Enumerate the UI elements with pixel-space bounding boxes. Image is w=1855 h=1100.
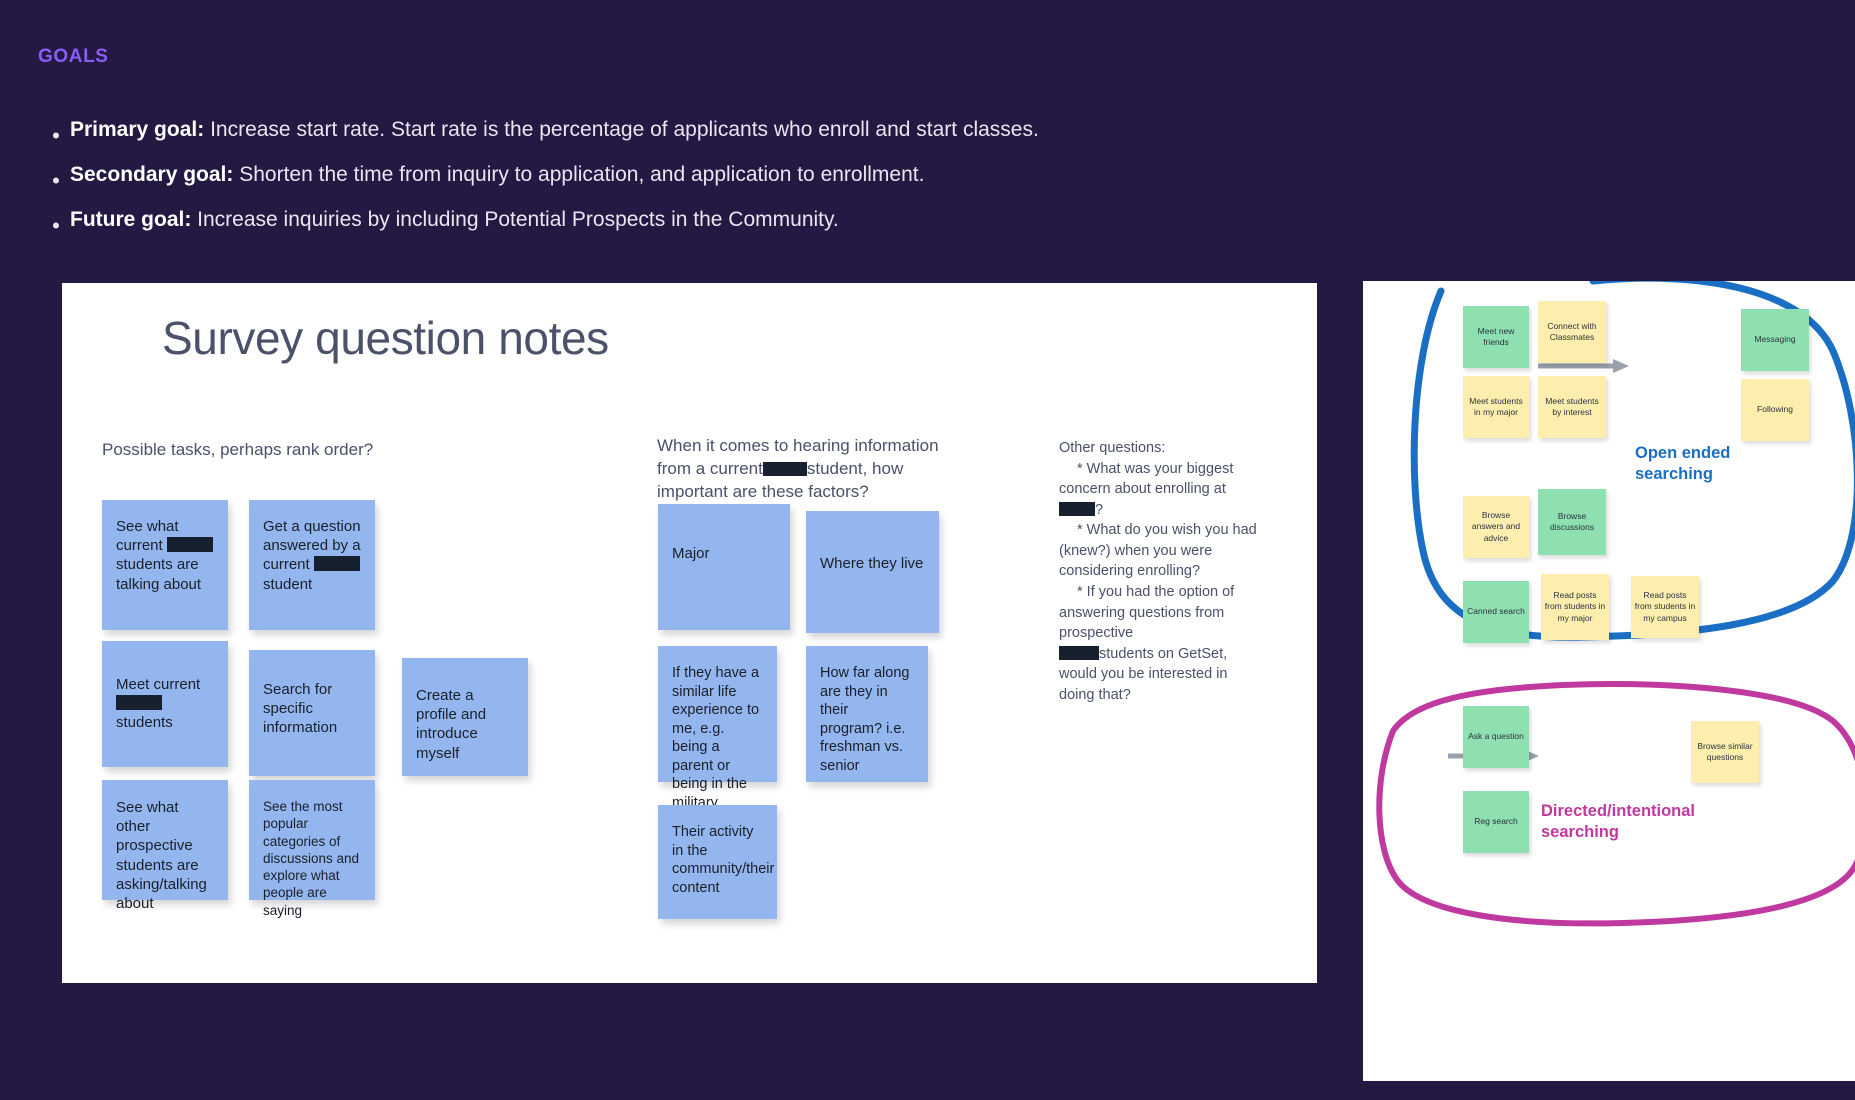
sticky-note-mini[interactable]: Read posts from students in my campus — [1631, 576, 1699, 638]
sticky-note-mini[interactable]: Read posts from students in my major — [1541, 574, 1609, 640]
goal-item: • Primary goal: Increase start rate. Sta… — [42, 116, 1542, 147]
sticky-note-mini[interactable]: Ask a question — [1463, 706, 1529, 768]
sticky-note[interactable]: Create a profile and introduce myself — [402, 658, 528, 776]
sticky-note[interactable]: Search for specific information — [249, 650, 375, 776]
bullet-icon: • — [42, 161, 70, 192]
note-text: Search for specific information — [263, 681, 337, 736]
sticky-note-mini[interactable]: Canned search — [1463, 581, 1529, 643]
note-text: Create a profile and introduce myself — [416, 687, 486, 762]
bullet-icon: • — [42, 206, 70, 237]
sticky-note[interactable]: Meet current students — [102, 641, 228, 767]
other-questions-block: Other questions: * What was your biggest… — [1059, 438, 1264, 706]
redaction-bar — [1059, 502, 1095, 516]
bullet-icon: • — [42, 116, 70, 147]
note-text-tail: students — [116, 714, 173, 731]
note-text: Their activity in the community/their co… — [672, 824, 774, 896]
column-heading-tasks: Possible tasks, perhaps rank order? — [102, 439, 502, 462]
sticky-note-mini[interactable]: Meet students by interest — [1538, 376, 1606, 438]
sticky-note-mini[interactable]: Following — [1741, 379, 1809, 441]
other-question-2: * What do you wish you had (knew?) when … — [1059, 520, 1264, 582]
cluster-label-open-ended: Open ended searching — [1635, 443, 1785, 486]
note-text: See the most popular categories of discu… — [263, 799, 359, 918]
sticky-note[interactable]: See the most popular categories of discu… — [249, 780, 375, 900]
sticky-note[interactable]: If they have a similar life experience t… — [658, 646, 777, 782]
sticky-note-mini[interactable]: Messaging — [1741, 309, 1809, 371]
note-text-tail: student — [263, 576, 312, 593]
sticky-note[interactable]: See what other prospective students are … — [102, 780, 228, 900]
sticky-note-mini[interactable]: Connect with Classmates — [1538, 301, 1606, 363]
redaction-bar — [763, 462, 807, 476]
slide-canvas: GOALS • Primary goal: Increase start rat… — [0, 0, 1855, 1100]
sticky-note-mini[interactable]: Meet students in my major — [1463, 376, 1529, 438]
redaction-bar — [314, 556, 360, 571]
note-text: If they have a similar life experience t… — [672, 665, 759, 811]
column-heading-factors: When it comes to hearing information fro… — [657, 435, 977, 504]
note-text: How far along are they in their program?… — [820, 665, 909, 774]
note-text: Meet current — [116, 676, 200, 693]
other-question-1: * What was your biggest concern about en… — [1059, 459, 1264, 500]
goal-item: • Secondary goal: Shorten the time from … — [42, 161, 1542, 192]
sticky-note[interactable]: See what current students are talking ab… — [102, 500, 228, 630]
sticky-note[interactable]: Get a question answered by a current stu… — [249, 500, 375, 630]
sticky-note-mini[interactable]: Browse discussions — [1538, 489, 1606, 555]
other-questions-heading: Other questions: — [1059, 440, 1165, 456]
note-text: Where they live — [820, 555, 923, 572]
sticky-note-mini[interactable]: Reg search — [1463, 791, 1529, 853]
goal-label: Primary goal: — [70, 118, 204, 141]
sticky-note[interactable]: Major — [658, 504, 790, 630]
factors-heading-d: these factors? — [762, 482, 869, 501]
section-label-goals: GOALS — [38, 46, 109, 68]
sticky-note-mini[interactable]: Browse similar questions — [1691, 721, 1759, 783]
goal-body: Shorten the time from inquiry to applica… — [239, 163, 924, 186]
goal-label: Future goal: — [70, 208, 191, 231]
other-question-1-tail: ? — [1095, 502, 1103, 518]
goal-item: • Future goal: Increase inquiries by inc… — [42, 206, 1542, 237]
goal-text: Secondary goal: Shorten the time from in… — [70, 161, 924, 189]
goal-body: Increase inquiries by including Potentia… — [197, 208, 839, 231]
goal-text: Primary goal: Increase start rate. Start… — [70, 116, 1039, 144]
survey-notes-slide: Survey question notes Possible tasks, pe… — [62, 283, 1317, 983]
redaction-bar — [116, 695, 162, 710]
redaction-bar — [167, 537, 213, 552]
note-text: See what other prospective students are … — [116, 799, 207, 912]
redaction-bar — [1059, 646, 1099, 660]
cluster-label-directed: Directed/intentional searching — [1541, 801, 1741, 844]
factors-heading-b: current — [710, 459, 763, 478]
goal-text: Future goal: Increase inquiries by inclu… — [70, 206, 839, 234]
sticky-note[interactable]: How far along are they in their program?… — [806, 646, 928, 782]
note-text: Major — [672, 545, 710, 562]
goal-body: Increase start rate. Start rate is the p… — [210, 118, 1039, 141]
sticky-note[interactable]: Where they live — [806, 511, 939, 633]
goals-list: • Primary goal: Increase start rate. Sta… — [42, 116, 1542, 251]
other-question-3: * If you had the option of answering que… — [1059, 582, 1264, 644]
sticky-note[interactable]: Their activity in the community/their co… — [658, 805, 777, 919]
goal-label: Secondary goal: — [70, 163, 233, 186]
sticky-note-mini[interactable]: Meet new friends — [1463, 306, 1529, 368]
sticky-note-mini[interactable]: Browse answers and advice — [1463, 496, 1529, 558]
slide-title: Survey question notes — [162, 311, 609, 365]
affinity-map-panel: Meet new friends Connect with Classmates… — [1363, 281, 1855, 1081]
note-text-tail: students are talking about — [116, 556, 201, 592]
